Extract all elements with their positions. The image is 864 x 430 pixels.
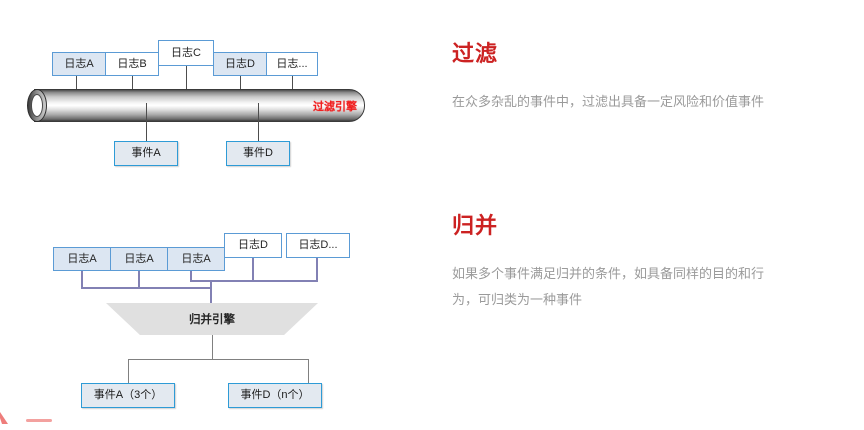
merge-connector-1-drop — [138, 271, 140, 287]
section-merge-title: 归并 — [452, 215, 812, 237]
merge-connector-2-drop — [190, 271, 192, 280]
section-merge-body: 如果多个事件满足归并的条件，如具备同样的目的和行为，可归类为一种事件 — [452, 261, 782, 313]
merge-output-stem — [212, 335, 213, 359]
merge-connector-0-run — [81, 287, 211, 289]
merge-engine-trapezoid: 归并引擎 — [106, 303, 318, 335]
section-filter: 过滤 在众多杂乱的事件中，过滤出具备一定风险和价值事件 — [452, 43, 812, 115]
merge-diagram: 日志A 日志A 日志A 日志D 日志D... 归并引擎 事件A（3个） 事件D（… — [0, 0, 440, 427]
merge-output-drop-0 — [128, 359, 129, 383]
merge-output-drop-1 — [308, 359, 309, 383]
merge-connector-0-drop — [81, 271, 83, 287]
merge-log-box-1[interactable]: 日志A — [110, 247, 168, 271]
merge-connector-4-drop — [316, 258, 318, 280]
merge-event-box-0[interactable]: 事件A（3个） — [81, 383, 175, 408]
merge-output-bar — [128, 359, 308, 360]
merge-connector-2-run — [190, 280, 212, 282]
merge-connector-3-run — [210, 280, 254, 282]
merge-event-box-1[interactable]: 事件D（n个） — [228, 383, 322, 408]
section-merge: 归并 如果多个事件满足归并的条件，如具备同样的目的和行为，可归类为一种事件 — [452, 215, 812, 313]
merge-log-box-4[interactable]: 日志D... — [286, 233, 350, 258]
merge-log-box-3[interactable]: 日志D — [224, 233, 282, 258]
merge-funnel-stem — [210, 280, 212, 305]
section-filter-body: 在众多杂乱的事件中，过滤出具备一定风险和价值事件 — [452, 89, 782, 115]
merge-log-box-0[interactable]: 日志A — [53, 247, 111, 271]
merge-connector-3-drop — [252, 258, 254, 280]
merge-engine-label: 归并引擎 — [106, 303, 318, 335]
merge-connector-4-run — [252, 280, 318, 282]
merge-log-box-2[interactable]: 日志A — [167, 247, 225, 271]
section-filter-title: 过滤 — [452, 43, 812, 65]
